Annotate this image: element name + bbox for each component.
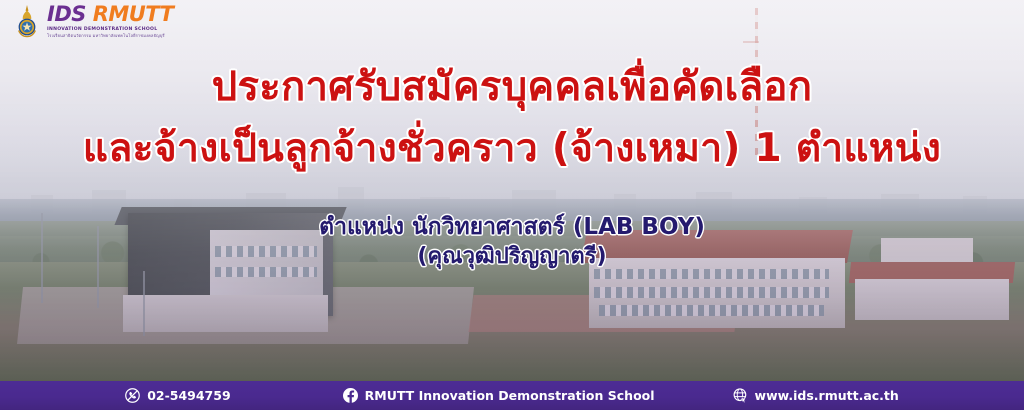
headline-block: ประกาศรับสมัครบุคคลเพื่อคัดเลือก และจ้าง…: [0, 56, 1024, 180]
facebook-icon: [343, 388, 358, 403]
footer-facebook[interactable]: RMUTT Innovation Demonstration School: [343, 388, 655, 403]
logo-subtitle-en: INNOVATION DEMONSTRATION SCHOOL: [47, 28, 173, 33]
logo-brand-rmutt: RMUTT: [93, 2, 174, 26]
logo-brand: IDS RMUTT: [47, 4, 173, 25]
subtitle-line-2: (คุณวุฒิปริญญาตรี): [0, 242, 1024, 271]
subtitle-line-1: ตำแหน่ง นักวิทยาศาสตร์ (LAB BOY): [0, 213, 1024, 242]
phone-icon: [125, 388, 140, 403]
globe-icon: [733, 388, 748, 403]
headline-line-2: และจ้างเป็นลูกจ้างชั่วคราว (จ้างเหมา) 1 …: [0, 118, 1024, 180]
footer-phone-label: 02-5494759: [147, 388, 230, 403]
logo-subtitle-th: โรงเรียนสาธิตนวัตกรรม มหาวิทยาลัยเทคโนโล…: [47, 34, 173, 38]
ids-rmutt-logo: IDS RMUTT INNOVATION DEMONSTRATION SCHOO…: [12, 4, 173, 38]
contact-footer-bar: 02-5494759 RMUTT Innovation Demonstratio…: [0, 381, 1024, 410]
subtitle-block: ตำแหน่ง นักวิทยาศาสตร์ (LAB BOY) (คุณวุฒ…: [0, 213, 1024, 271]
thai-royal-emblem-crest-icon: [12, 4, 42, 38]
announcement-banner: IDS RMUTT INNOVATION DEMONSTRATION SCHOO…: [0, 0, 1024, 410]
headline-line-1: ประกาศรับสมัครบุคคลเพื่อคัดเลือก: [0, 56, 1024, 118]
footer-website[interactable]: www.ids.rmutt.ac.th: [733, 388, 899, 403]
logo-wordmark: IDS RMUTT INNOVATION DEMONSTRATION SCHOO…: [47, 4, 173, 38]
footer-website-label: www.ids.rmutt.ac.th: [755, 388, 899, 403]
footer-phone[interactable]: 02-5494759: [125, 388, 230, 403]
footer-facebook-label: RMUTT Innovation Demonstration School: [365, 388, 655, 403]
